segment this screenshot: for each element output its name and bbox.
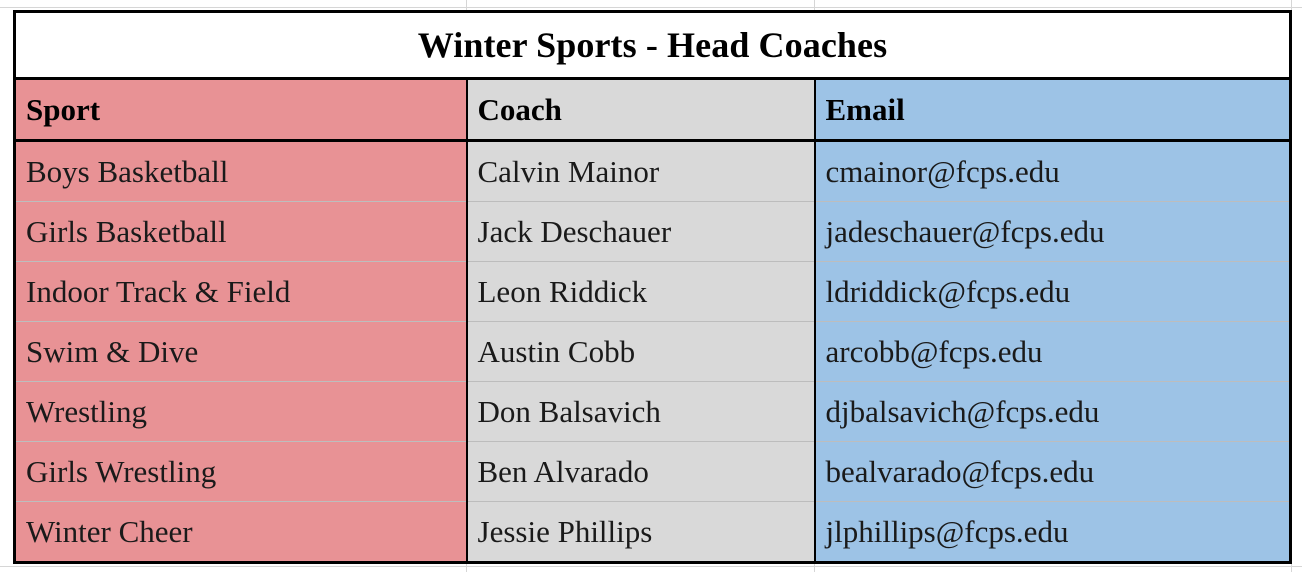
cell-email[interactable]: cmainor@fcps.edu (815, 141, 1291, 202)
coaches-table-container: Winter Sports - Head Coaches Sport Coach… (13, 10, 1289, 564)
cell-email[interactable]: bealvarado@fcps.edu (815, 442, 1291, 502)
table-title-row: Winter Sports - Head Coaches (15, 12, 1291, 79)
cell-email[interactable]: djbalsavich@fcps.edu (815, 382, 1291, 442)
table-header-row: Sport Coach Email (15, 79, 1291, 141)
cell-email[interactable]: jlphillips@fcps.edu (815, 502, 1291, 563)
cell-coach[interactable]: Jessie Phillips (467, 502, 815, 563)
cell-coach[interactable]: Austin Cobb (467, 322, 815, 382)
cell-coach[interactable]: Calvin Mainor (467, 141, 815, 202)
cell-sport[interactable]: Wrestling (15, 382, 467, 442)
table-row: Swim & Dive Austin Cobb arcobb@fcps.edu (15, 322, 1291, 382)
table-row: Girls Wrestling Ben Alvarado bealvarado@… (15, 442, 1291, 502)
cell-coach[interactable]: Don Balsavich (467, 382, 815, 442)
column-header-sport[interactable]: Sport (15, 79, 467, 141)
cell-coach[interactable]: Ben Alvarado (467, 442, 815, 502)
column-header-coach[interactable]: Coach (467, 79, 815, 141)
table-title: Winter Sports - Head Coaches (15, 12, 1291, 79)
sheet-gridline-horizontal (0, 7, 1302, 8)
spreadsheet-canvas: Winter Sports - Head Coaches Sport Coach… (0, 0, 1302, 572)
table-row: Boys Basketball Calvin Mainor cmainor@fc… (15, 141, 1291, 202)
table-row: Wrestling Don Balsavich djbalsavich@fcps… (15, 382, 1291, 442)
table-row: Winter Cheer Jessie Phillips jlphillips@… (15, 502, 1291, 563)
coaches-table: Winter Sports - Head Coaches Sport Coach… (13, 10, 1292, 564)
sheet-gridline-horizontal (0, 566, 1302, 567)
cell-coach[interactable]: Jack Deschauer (467, 202, 815, 262)
cell-sport[interactable]: Girls Wrestling (15, 442, 467, 502)
table-row: Girls Basketball Jack Deschauer jadescha… (15, 202, 1291, 262)
cell-email[interactable]: jadeschauer@fcps.edu (815, 202, 1291, 262)
cell-email[interactable]: arcobb@fcps.edu (815, 322, 1291, 382)
cell-sport[interactable]: Swim & Dive (15, 322, 467, 382)
column-header-email[interactable]: Email (815, 79, 1291, 141)
cell-sport[interactable]: Indoor Track & Field (15, 262, 467, 322)
cell-email[interactable]: ldriddick@fcps.edu (815, 262, 1291, 322)
cell-sport[interactable]: Boys Basketball (15, 141, 467, 202)
cell-coach[interactable]: Leon Riddick (467, 262, 815, 322)
table-row: Indoor Track & Field Leon Riddick ldridd… (15, 262, 1291, 322)
cell-sport[interactable]: Winter Cheer (15, 502, 467, 563)
cell-sport[interactable]: Girls Basketball (15, 202, 467, 262)
